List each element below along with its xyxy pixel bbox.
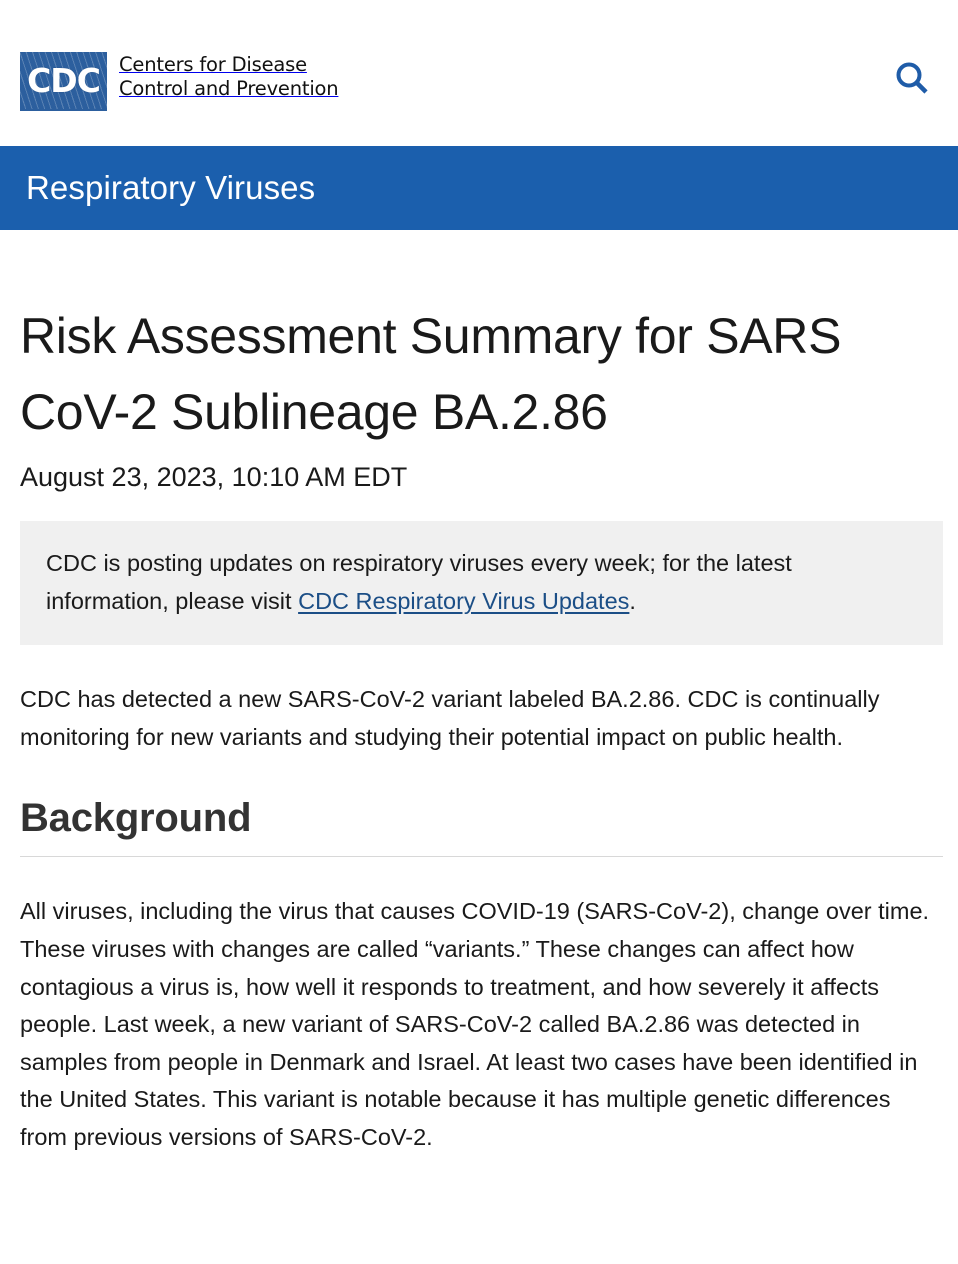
cdc-logo[interactable]: CDC Centers for Disease Control and Prev… <box>20 52 338 111</box>
page-title: Risk Assessment Summary for SARS CoV-2 S… <box>20 298 900 450</box>
cdc-logo-tagline: Centers for Disease Control and Preventi… <box>119 53 338 101</box>
callout-text-after: . <box>629 588 636 614</box>
cdc-logo-mark: CDC <box>20 52 107 111</box>
site-masthead: CDC Centers for Disease Control and Prev… <box>0 0 958 146</box>
update-callout: CDC is posting updates on respiratory vi… <box>20 521 943 645</box>
publish-date: August 23, 2023, 10:10 AM EDT <box>20 460 938 495</box>
background-paragraph: All viruses, including the virus that ca… <box>20 893 938 1156</box>
section-banner: Respiratory Viruses <box>0 146 958 230</box>
cdc-respiratory-virus-updates-link[interactable]: CDC Respiratory Virus Updates <box>298 588 629 614</box>
search-icon <box>892 59 932 102</box>
section-heading-background: Background <box>20 794 938 842</box>
section-banner-title: Respiratory Viruses <box>26 170 315 206</box>
main-content: Risk Assessment Summary for SARS CoV-2 S… <box>0 298 958 1157</box>
intro-paragraph: CDC has detected a new SARS-CoV-2 varian… <box>20 681 938 756</box>
callout-text: CDC is posting updates on respiratory vi… <box>46 544 917 620</box>
search-button[interactable] <box>884 52 940 108</box>
cdc-logo-text: CDC <box>20 63 107 96</box>
section-divider <box>20 856 943 857</box>
